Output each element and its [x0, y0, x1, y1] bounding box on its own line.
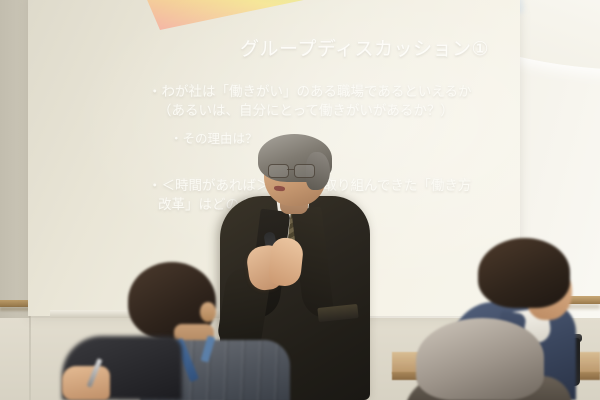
slide-bullet-1-line1: ・わが社は「働きがい」のある職場であるといえるか — [148, 84, 471, 99]
attendee-grayhair-figure — [416, 318, 566, 400]
attendee-grayhair-head — [416, 318, 544, 400]
attendee-suit-hair — [478, 238, 570, 308]
slide-bullet-1-line2: （あるいは、自分にとって働きがいがあるか？） — [158, 101, 508, 120]
presentation-photo: グループディスカッション① ・わが社は「働きがい」のある職場であるといえるか （… — [0, 0, 600, 400]
attendee-vest-ear — [200, 302, 216, 322]
slide-decoration-swoosh — [90, 0, 390, 36]
attendee-pen-hand — [62, 366, 110, 400]
swoosh-svg — [90, 0, 390, 36]
slide-title: グループディスカッション① — [240, 34, 530, 61]
slide-bullet-1: ・わが社は「働きがい」のある職場であるといえるか （あるいは、自分にとって働きが… — [148, 82, 508, 120]
glasses-icon — [268, 164, 316, 176]
